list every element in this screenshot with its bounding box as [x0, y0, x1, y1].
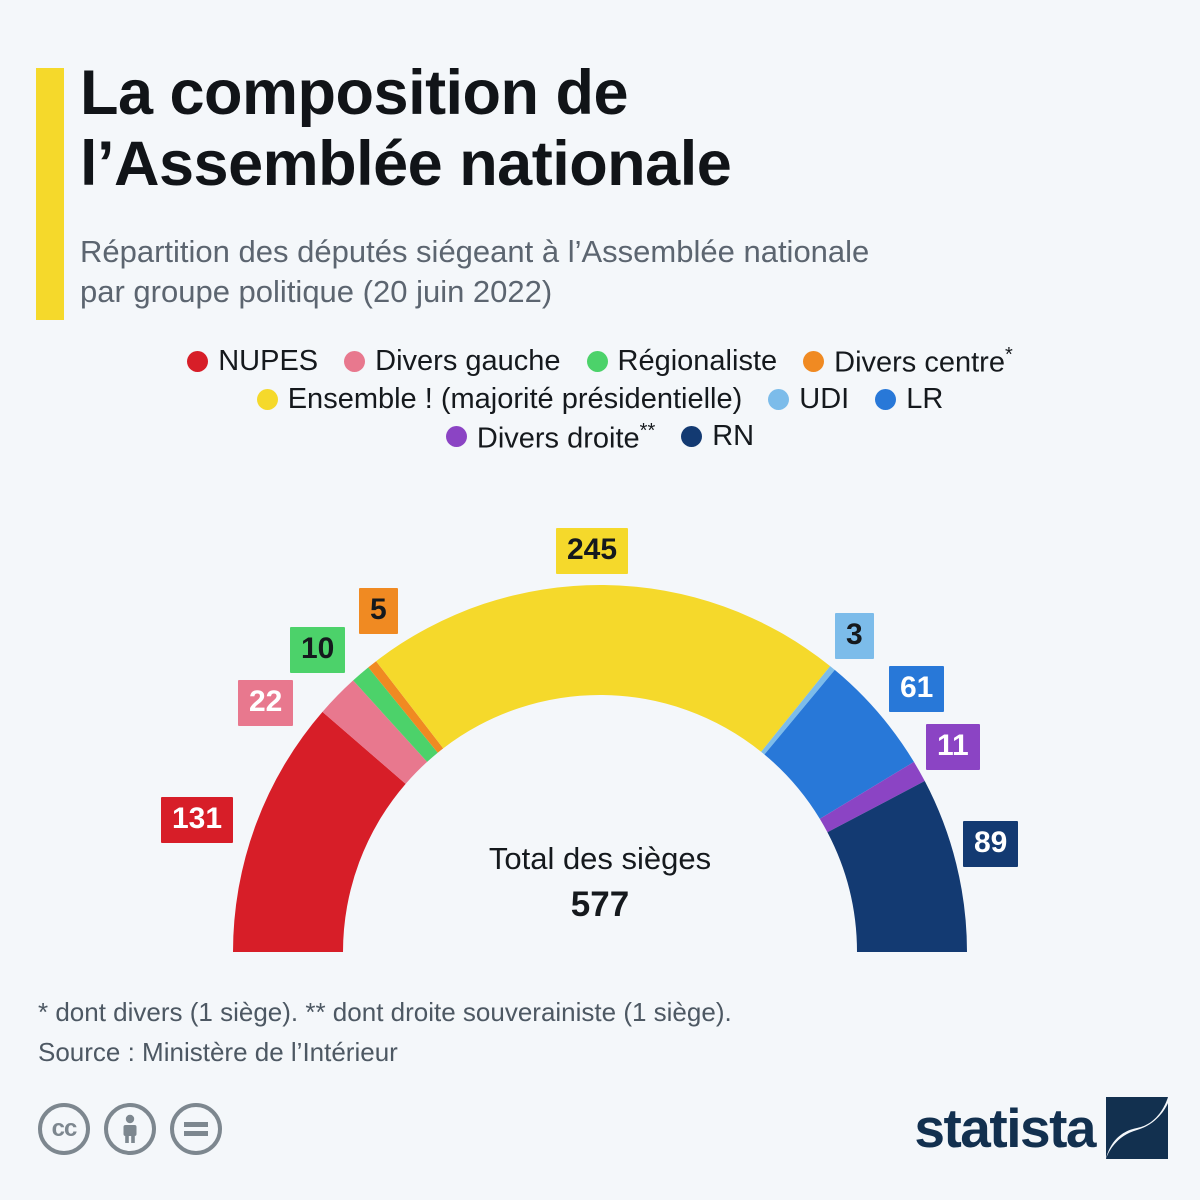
chart-legend: NUPES Divers gauche Régionaliste Divers … [0, 345, 1200, 460]
person-glyph [117, 1114, 143, 1144]
legend-color-dot [187, 351, 208, 372]
footnote-marker: ** [640, 420, 656, 442]
legend-color-dot [587, 351, 608, 372]
legend-color-dot [446, 426, 467, 447]
legend-item-label: NUPES [218, 347, 318, 376]
cc-icon: cc [38, 1103, 90, 1155]
legend-item-label: Divers centre* [834, 345, 1013, 378]
segment-value-label: 89 [963, 821, 1018, 867]
title-accent-bar [36, 68, 64, 320]
statista-wordmark: statista [914, 1101, 1095, 1156]
segment-value-label: 131 [161, 797, 233, 843]
segment-value-label: 10 [290, 627, 345, 673]
legend-row: Ensemble ! (majorité présidentielle) UDI… [0, 385, 1200, 414]
legend-color-dot [681, 426, 702, 447]
legend-item-ensemble[interactable]: Ensemble ! (majorité présidentielle) [257, 385, 743, 414]
legend-item-divers-centre[interactable]: Divers centre* [803, 345, 1013, 378]
cc-nd-equals-icon [170, 1103, 222, 1155]
legend-item-label: Divers droite** [477, 421, 655, 454]
arc-segment[interactable] [376, 585, 830, 752]
legend-color-dot [803, 351, 824, 372]
legend-item-divers-droite[interactable]: Divers droite** [446, 421, 655, 454]
legend-item-label: Divers gauche [375, 347, 560, 376]
legend-row: NUPES Divers gauche Régionaliste Divers … [0, 345, 1200, 378]
chart-total-value: 577 [0, 884, 1200, 926]
cc-by-person-icon [104, 1103, 156, 1155]
legend-item-label: UDI [799, 385, 849, 414]
statista-logo: statista [914, 1097, 1168, 1159]
legend-item-label: Régionaliste [618, 347, 778, 376]
segment-value-label: 3 [835, 613, 874, 659]
page-subtitle: Répartition des députés siégeant à l’Ass… [80, 232, 1160, 311]
statista-mark-icon [1106, 1097, 1168, 1159]
legend-item-label: Ensemble ! (majorité présidentielle) [288, 385, 743, 414]
footnote-marker: * [1005, 344, 1013, 366]
legend-item-label: RN [712, 422, 754, 451]
legend-item-rn[interactable]: RN [681, 422, 754, 451]
equals-glyph [182, 1120, 210, 1138]
legend-color-dot [344, 351, 365, 372]
segment-value-label: 22 [238, 680, 293, 726]
legend-item-nupes[interactable]: NUPES [187, 347, 318, 376]
legend-item-regionaliste[interactable]: Régionaliste [587, 347, 778, 376]
footnotes: * dont divers (1 siège). ** dont droite … [38, 993, 1138, 1032]
cc-icon-text: cc [52, 1115, 77, 1143]
legend-item-divers-gauche[interactable]: Divers gauche [344, 347, 560, 376]
legend-color-dot [768, 389, 789, 410]
chart-total-label: Total des sièges [0, 840, 1200, 877]
legend-item-udi[interactable]: UDI [768, 385, 849, 414]
legend-row: Divers droite** RN [0, 421, 1200, 454]
page-title: La composition de l’Assemblée nationale [80, 58, 1170, 200]
license-badges: cc [38, 1103, 222, 1155]
legend-item-label: LR [906, 385, 943, 414]
segment-value-label: 11 [926, 724, 980, 770]
segment-value-label: 245 [556, 528, 628, 574]
legend-color-dot [257, 389, 278, 410]
segment-value-label: 61 [889, 666, 944, 712]
segment-value-label: 5 [359, 588, 398, 634]
source-line: Source : Ministère de l’Intérieur [38, 1033, 1138, 1072]
legend-item-lr[interactable]: LR [875, 385, 943, 414]
legend-color-dot [875, 389, 896, 410]
infographic-root: La composition de l’Assemblée nationale … [0, 0, 1200, 1200]
